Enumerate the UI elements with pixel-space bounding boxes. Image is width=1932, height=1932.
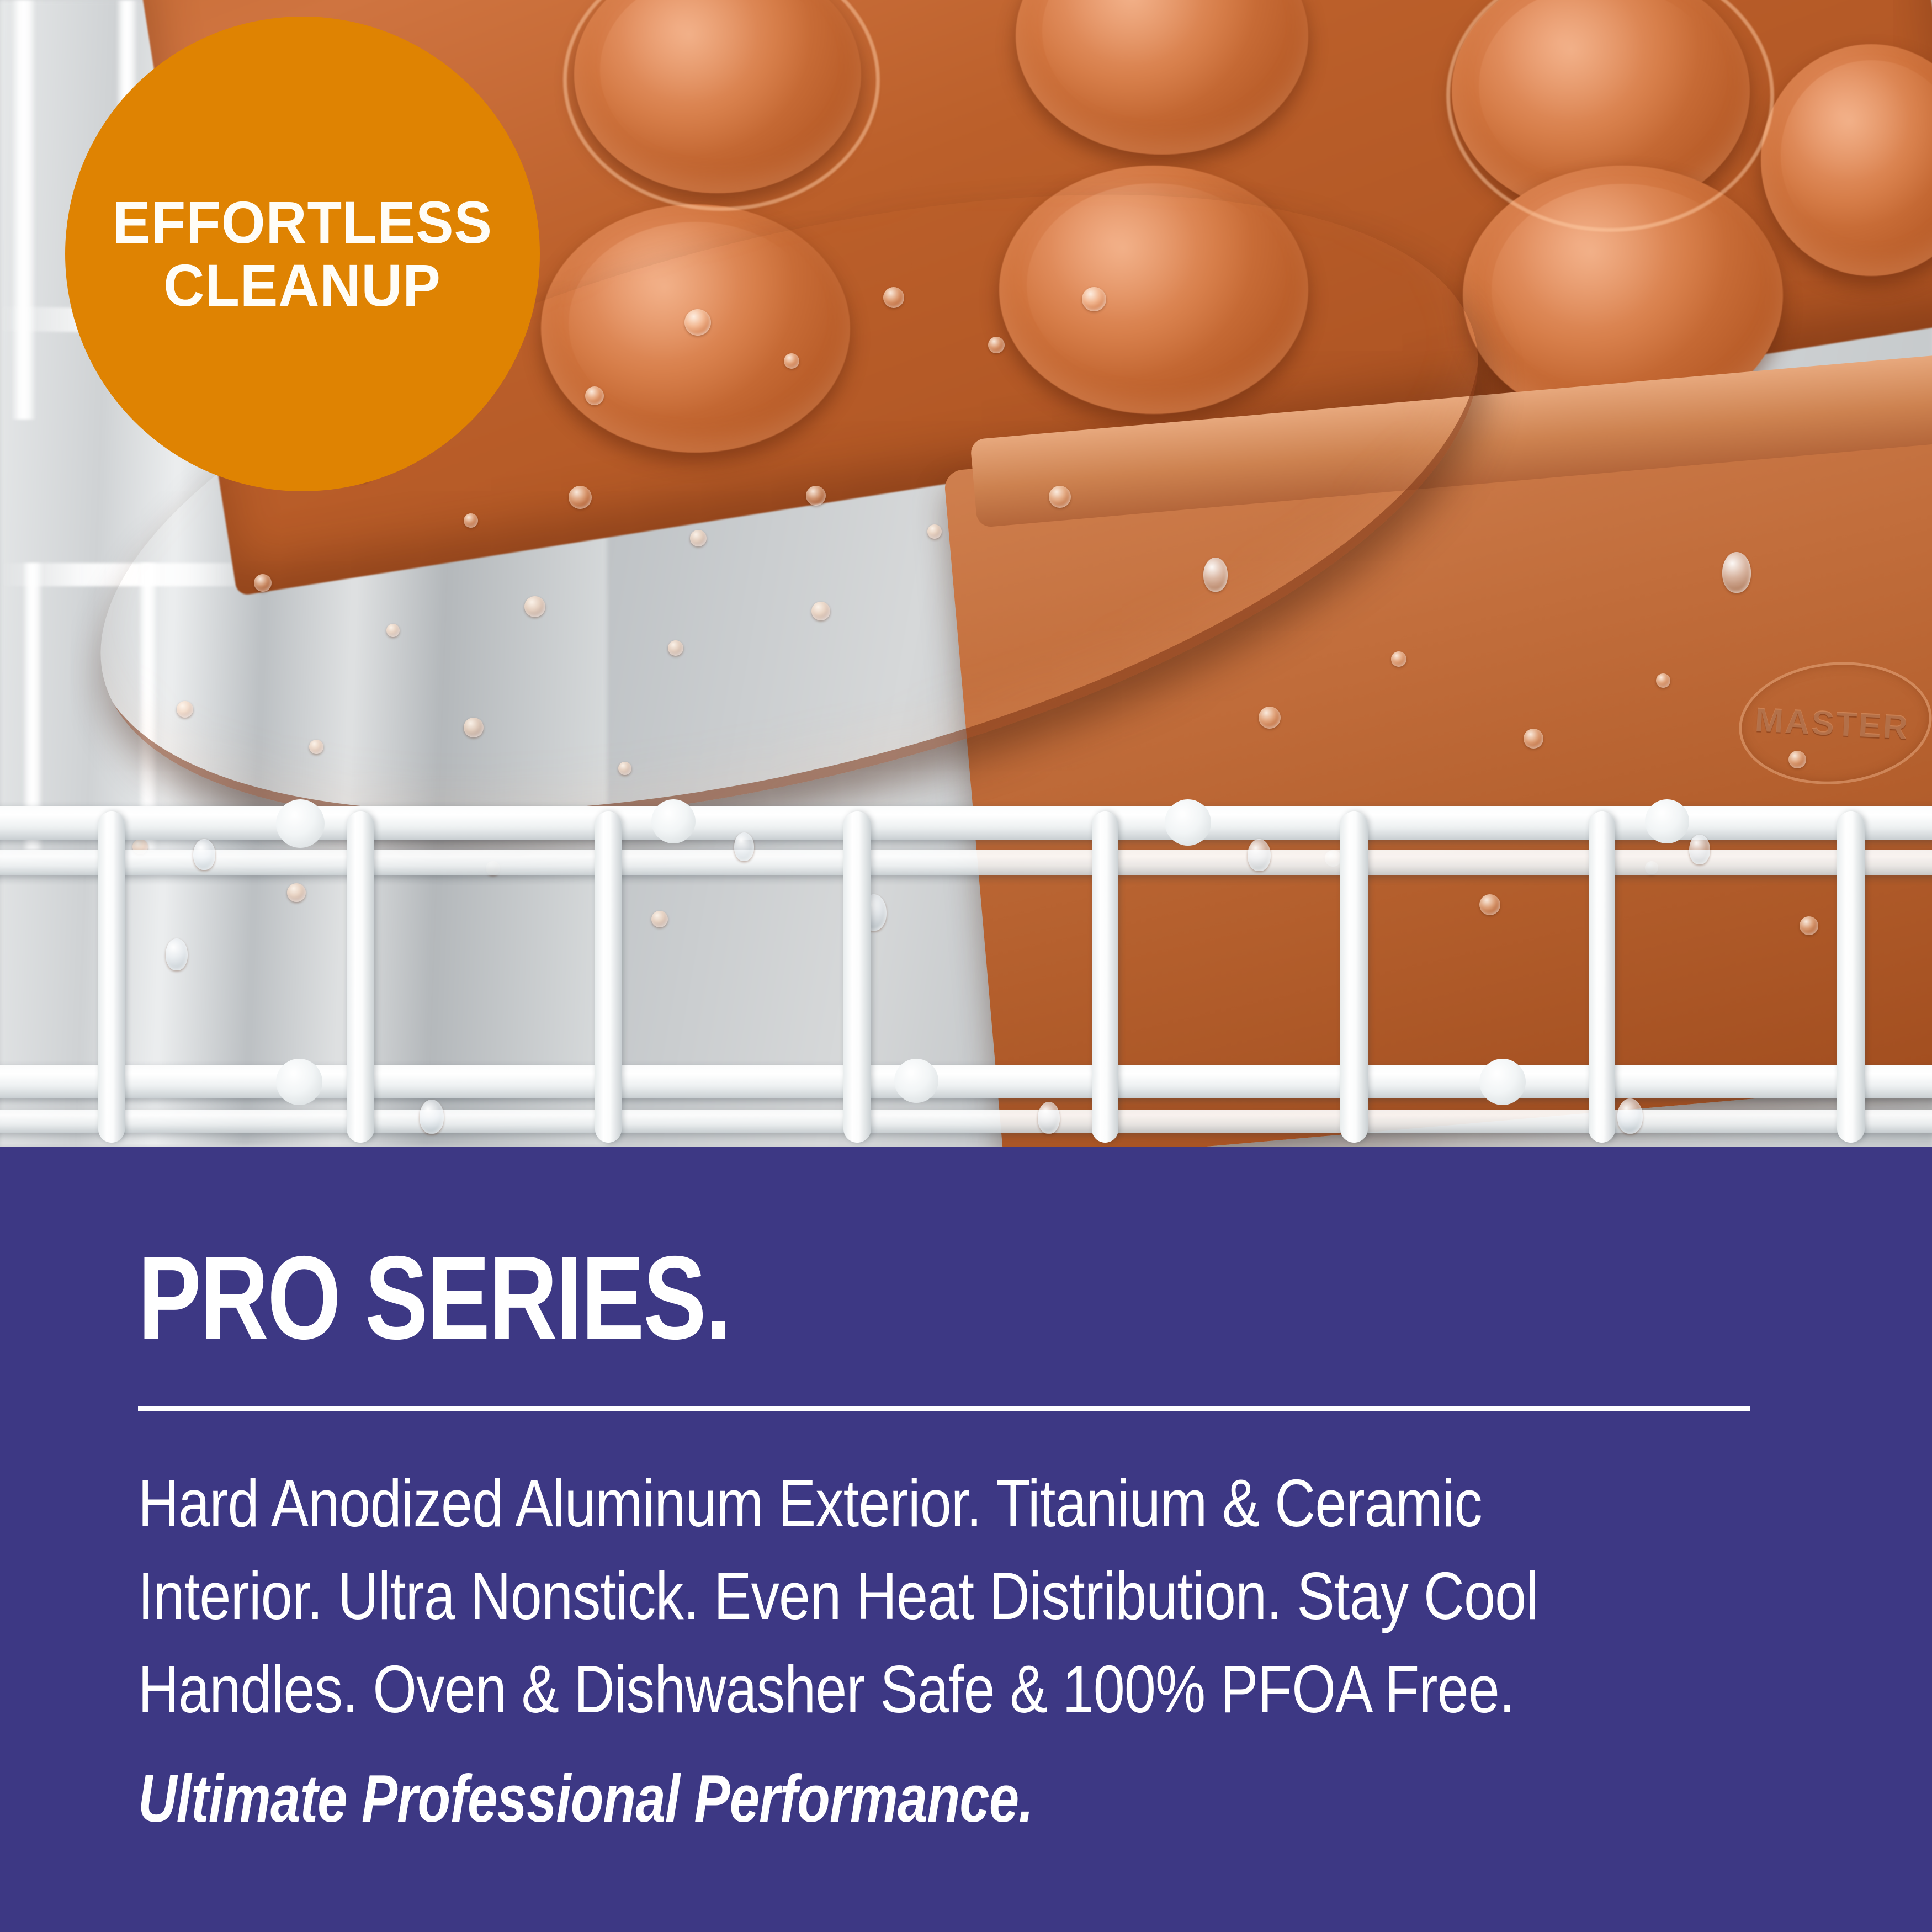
rack-wire-vertical [595,811,622,1143]
water-droplet [1524,729,1543,749]
water-droplet [734,832,754,861]
water-droplet [1038,1102,1060,1134]
rack-wire-horizontal-top-2 [0,850,1932,875]
water-droplet [193,839,215,870]
product-feature-card: MASTER [0,0,1932,1932]
info-panel: PRO SERIES. Hard Anodized Aluminum Exter… [0,1147,1932,1932]
water-droplet [569,486,592,509]
water-droplet [1722,552,1751,593]
panel-body-line: Interior. Ultra Nonstick. Even Heat Dist… [138,1549,1529,1642]
rack-wire-vertical [347,811,374,1143]
water-droplet [806,486,826,506]
water-droplet [684,309,711,336]
water-droplet [1617,1098,1643,1134]
panel-heading: PRO SERIES. [138,1243,1463,1352]
water-droplet [883,287,904,308]
badge-line-1: EFFORTLESS [113,191,492,254]
water-droplet [386,624,400,637]
rack-wire-vertical [1589,811,1615,1143]
water-droplet [1391,651,1406,667]
rack-wire-vertical [1092,811,1118,1143]
water-droplet [1689,835,1710,864]
badge-line-2: CLEANUP [164,254,442,317]
rack-wire-node [276,799,325,848]
rack-wire-node [651,799,696,843]
rack-wire-node [1479,1059,1526,1105]
panel-body-line: Handles. Oven & Dishwasher Safe & 100% P… [138,1643,1529,1735]
water-droplet [287,883,306,902]
water-droplet [651,911,668,927]
rack-wire-vertical [843,811,871,1143]
water-droplet [524,596,545,617]
water-droplet [1800,916,1818,935]
water-droplet [618,762,631,775]
water-droplet [1656,673,1670,688]
panel-body-copy: Hard Anodized Aluminum Exterior. Titaniu… [138,1457,1529,1735]
water-droplet [1788,751,1806,768]
water-droplet [784,353,799,369]
panel-divider-rule [138,1406,1750,1411]
water-droplet [464,718,484,737]
water-droplet [927,524,942,539]
panel-tagline: Ultimate Professional Performance. [138,1760,1463,1837]
rack-wire-node [1645,799,1689,843]
rack-wire-node [1165,799,1211,846]
water-droplet [668,640,683,656]
rack-wire-node [276,1059,322,1105]
water-droplet [464,513,478,528]
rack-wire-vertical [1837,811,1865,1143]
water-droplet [1479,894,1500,915]
water-droplet [811,602,830,620]
water-droplet [420,1100,444,1134]
rack-wire-node [894,1059,938,1103]
water-droplet [1049,486,1071,508]
water-droplet [988,337,1005,353]
background-wire-1 [11,0,36,420]
water-droplet [309,740,323,754]
effortless-cleanup-badge: EFFORTLESS CLEANUP [65,17,540,491]
water-droplet [177,701,193,718]
water-droplet [1203,558,1228,592]
water-droplet [254,574,272,592]
rack-wire-vertical [98,811,125,1143]
water-droplet [1082,287,1106,311]
brand-emboss-text: MASTER [1754,700,1910,747]
water-droplet [166,938,188,970]
water-droplet [1259,707,1281,729]
water-droplet [1248,839,1271,871]
water-droplet [585,386,604,405]
panel-body-line: Hard Anodized Aluminum Exterior. Titaniu… [138,1457,1529,1549]
water-droplet [690,530,707,546]
rack-wire-vertical [1340,811,1368,1143]
